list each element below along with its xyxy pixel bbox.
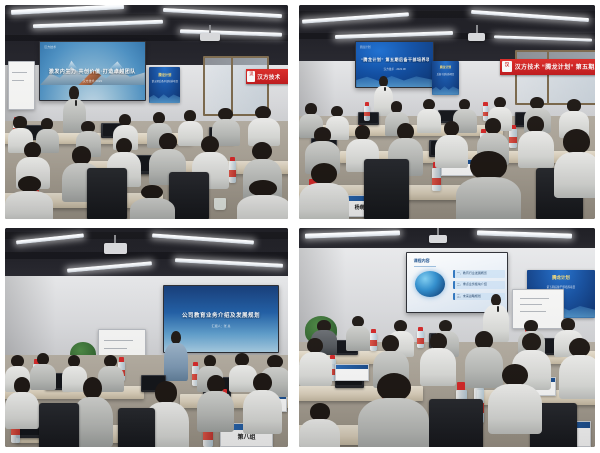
water-bottle	[509, 129, 517, 148]
slide-subtitle: 汉方技术 2023	[50, 79, 134, 83]
meeting-room-scene: 汉方技术 激发内生力·共创价值·打造卓越团队 汉方技术 2023 腾龙计划 第五…	[5, 5, 288, 219]
red-banner: 汉 汉方技术 “腾龙计划” 第五期后	[500, 59, 595, 75]
chair	[87, 168, 127, 219]
projection-screen: 腾龙计划 “腾龙计划” 第五期后备干部培养项目开班典礼 汉方技术 · 2023.…	[355, 41, 434, 88]
slide-logo: 腾龙计划	[360, 45, 370, 49]
poster-wave-graphic	[149, 90, 180, 103]
wall-poster: 腾龙计划 第五期后备干部培养项目	[149, 67, 180, 103]
slide-bullet: 二、重点业务板块介绍	[453, 281, 505, 289]
wall-shading	[5, 276, 56, 355]
presenter-torso	[164, 343, 188, 382]
attendee-foreground	[358, 373, 429, 447]
poster-title: 腾龙计划	[530, 275, 593, 281]
microphone	[75, 100, 77, 106]
attendee	[5, 377, 39, 430]
water-bottle	[229, 161, 237, 182]
collage-cell-bottom-left: 公司教育业务介绍及发展规划 汇报人：张 总	[0, 224, 294, 453]
red-banner: 汉 汉方技术	[246, 69, 288, 84]
attendee	[518, 116, 554, 167]
projector	[104, 243, 127, 254]
slide-rule	[414, 266, 436, 267]
attendee	[559, 338, 595, 399]
whiteboard-marks	[12, 80, 24, 81]
slide-title: 公司教育业务介绍及发展规划	[171, 311, 271, 319]
whiteboard-marks	[520, 298, 549, 299]
slide-bullet: 一、教育行业发展概览	[453, 270, 505, 278]
attendee	[299, 163, 349, 219]
photo-top-right[interactable]: 腾龙计划 “腾龙计划” 第五期后备干部培养项目开班典礼 汉方技术 · 2023.…	[299, 5, 595, 219]
projector	[200, 33, 220, 42]
slide-subtitle: 汉方技术 · 2023.08	[364, 67, 426, 71]
attendee	[197, 375, 234, 432]
projector	[429, 235, 447, 244]
whiteboard-marks	[12, 72, 27, 73]
slide-heading: 课程内容	[414, 258, 430, 264]
whiteboard-marks	[104, 348, 127, 349]
photo-bottom-left[interactable]: 公司教育业务介绍及发展规划 汇报人：张 总	[5, 228, 288, 447]
slide-logo: 汉方技术	[44, 45, 56, 49]
poster-title: 腾龙计划	[433, 65, 458, 69]
attendee	[299, 338, 332, 386]
attendee	[488, 364, 541, 434]
water-bottle	[364, 106, 370, 121]
banner-text: 汉方技术 “腾龙计划” 第五期后	[515, 62, 595, 71]
banner-text: 汉方技术	[257, 73, 280, 81]
projection-screen: 汉方技术 激发内生力·共创价值·打造卓越团队 汉方技术 2023	[39, 41, 146, 101]
photo-top-left[interactable]: 汉方技术 激发内生力·共创价值·打造卓越团队 汉方技术 2023 腾龙计划 第五…	[5, 5, 288, 219]
photo-collage: 汉方技术 激发内生力·共创价值·打造卓越团队 汉方技术 2023 腾龙计划 第五…	[0, 0, 600, 453]
projector	[468, 33, 486, 42]
chair	[39, 403, 79, 447]
slide-title: “腾龙计划” 第五期后备干部培养项目开班典礼	[361, 57, 429, 63]
banner-logo-mark: 汉	[247, 71, 255, 82]
poster-wave-graphic	[432, 83, 459, 95]
whiteboard-marks	[104, 340, 133, 341]
glass-mullion	[231, 58, 233, 114]
attendee	[299, 403, 340, 447]
globe-graphic	[415, 271, 445, 297]
chair	[364, 159, 408, 219]
attendee	[346, 316, 370, 351]
chair	[118, 408, 155, 447]
whiteboard-marks	[520, 311, 546, 312]
meeting-room-scene: 课程内容 一、教育行业发展概览 二、重点业务板块介绍 三、未来战略规划 腾龙计划…	[299, 228, 595, 447]
poster-subtitle: 后备干部培养项目	[434, 72, 457, 76]
attendee-foreground	[73, 377, 113, 447]
whiteboard-marks	[520, 304, 542, 305]
attendee	[248, 106, 279, 147]
meeting-room-scene: 腾龙计划 “腾龙计划” 第五期后备干部培养项目开班典礼 汉方技术 · 2023.…	[299, 5, 595, 219]
name-card-header	[336, 365, 369, 369]
attendee	[237, 180, 288, 219]
whiteboard	[8, 61, 35, 110]
slide-wave-graphic	[356, 71, 433, 87]
name-card-text: 第八组	[238, 435, 256, 441]
poster-title: 腾龙计划	[151, 72, 180, 77]
collage-cell-top-right: 腾龙计划 “腾龙计划” 第五期后备干部培养项目开班典礼 汉方技术 · 2023.…	[294, 0, 600, 224]
attendee	[5, 176, 53, 219]
slide-title: 激发内生力·共创价值·打造卓越团队	[46, 68, 138, 75]
presenter	[163, 331, 188, 381]
attendee	[554, 129, 595, 197]
paper-cup	[214, 198, 225, 211]
attendee	[243, 373, 283, 434]
photo-bottom-right[interactable]: 课程内容 一、教育行业发展概览 二、重点业务板块介绍 三、未来战略规划 腾龙计划…	[299, 228, 595, 447]
wall-poster: 腾龙计划 后备干部培养项目	[432, 61, 459, 95]
poster-subtitle: 第五期后备干部培养项目	[151, 79, 178, 83]
collage-cell-bottom-right: 课程内容 一、教育行业发展概览 二、重点业务板块介绍 三、未来战略规划 腾龙计划…	[294, 224, 600, 453]
collage-cell-top-left: 汉方技术 激发内生力·共创价值·打造卓越团队 汉方技术 2023 腾龙计划 第五…	[0, 0, 294, 224]
water-bottle	[432, 168, 441, 192]
slide-subtitle: 汇报人：张 总	[176, 324, 267, 328]
banner-logo-mark: 汉	[502, 61, 511, 73]
attendee-foreground	[456, 151, 521, 219]
ceiling-beam	[5, 252, 288, 259]
meeting-room-scene: 公司教育业务介绍及发展规划 汇报人：张 总	[5, 228, 288, 447]
chair	[429, 399, 482, 447]
attendee	[130, 185, 175, 219]
chair	[169, 172, 209, 219]
